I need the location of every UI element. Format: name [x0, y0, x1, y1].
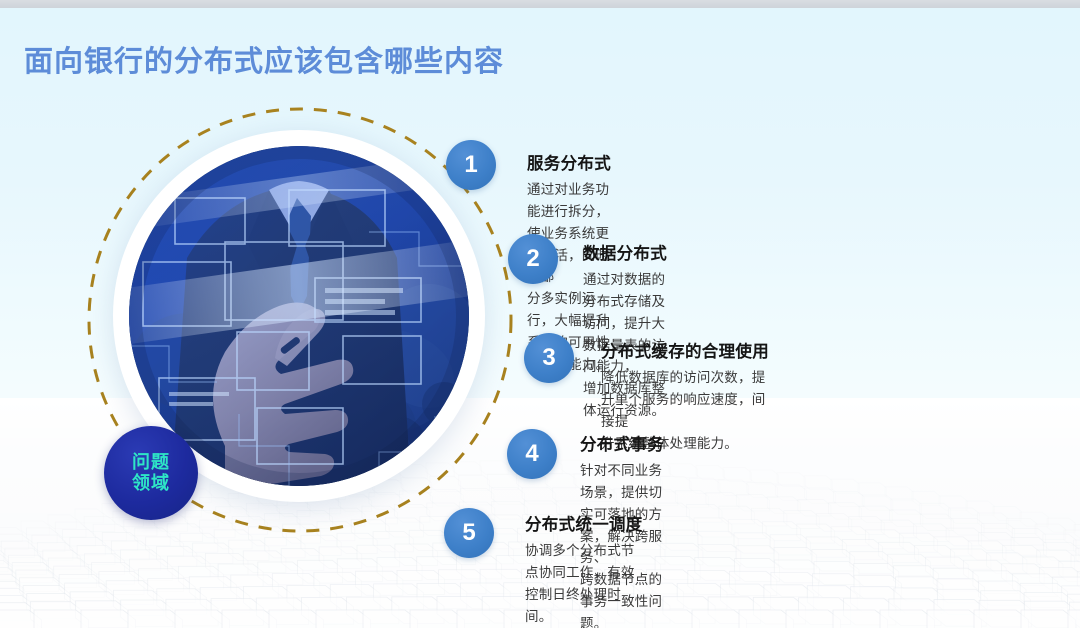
item-number-badge: 2 [508, 234, 558, 284]
hero-photo [129, 146, 469, 486]
item-heading: 分布式统一调度 [525, 511, 643, 535]
item-text-block: 分布式统一调度 协调多个分布式节点协同工作，有效控制日终处理时间。 [525, 511, 643, 627]
item-number-badge: 3 [524, 333, 574, 383]
item-number-badge: 5 [444, 508, 494, 558]
badge-line-1: 问题 [132, 452, 170, 473]
item-body: 协调多个分布式节点协同工作，有效控制日终处理时间。 [525, 540, 643, 627]
slide-canvas: 面向银行的分布式应该包含哪些内容 [0, 8, 1080, 628]
item-number-badge: 4 [507, 429, 557, 479]
item-heading: 服务分布式 [527, 150, 611, 174]
item-number-badge: 1 [446, 140, 496, 190]
item-heading: 数据分布式 [583, 240, 667, 264]
page-title: 面向银行的分布式应该包含哪些内容 [24, 38, 504, 80]
item-heading: 分布式缓存的合理使用 [601, 338, 769, 362]
item-heading: 分布式事务 [580, 431, 664, 455]
problem-domain-badge[interactable]: 问题 领域 [104, 426, 198, 520]
badge-line-2: 领域 [132, 473, 170, 494]
window-top-strip [0, 0, 1080, 8]
